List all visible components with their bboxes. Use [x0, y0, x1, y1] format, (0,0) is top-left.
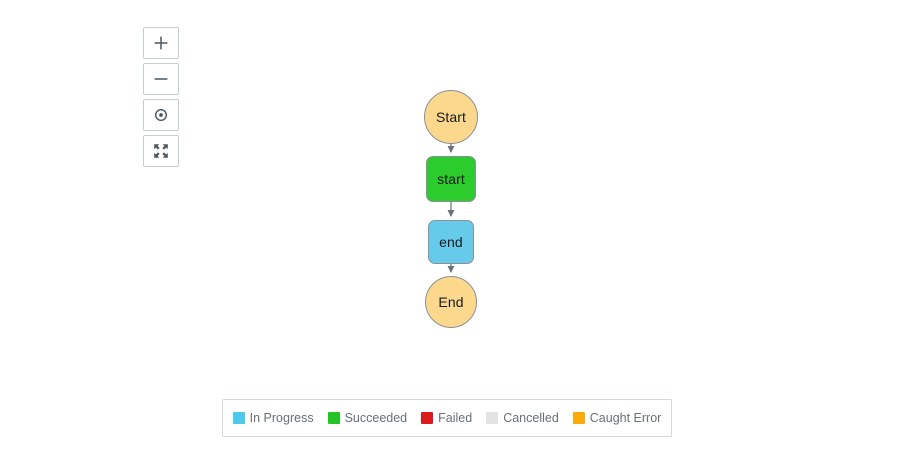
target-icon: [152, 106, 170, 124]
legend-swatch-in-progress: [233, 412, 245, 424]
graph-node-start[interactable]: Start: [424, 90, 478, 144]
legend-item-caught-error: Caught Error: [573, 411, 662, 425]
legend-swatch-cancelled: [486, 412, 498, 424]
graph-node-start-task[interactable]: start: [426, 156, 476, 202]
legend-item-in-progress: In Progress: [233, 411, 314, 425]
legend-swatch-succeeded: [328, 412, 340, 424]
legend-item-succeeded: Succeeded: [328, 411, 408, 425]
legend-label: In Progress: [250, 411, 314, 425]
graph-node-label: End: [438, 295, 463, 309]
graph-nodes-layer: Start start end End: [0, 0, 900, 450]
plus-icon: [152, 34, 170, 52]
fit-screen-icon: [152, 142, 170, 160]
minus-icon: [152, 70, 170, 88]
graph-node-end-task[interactable]: end: [428, 220, 474, 264]
legend-item-cancelled: Cancelled: [486, 411, 559, 425]
legend-label: Cancelled: [503, 411, 559, 425]
status-legend: In Progress Succeeded Failed Cancelled C…: [222, 399, 672, 437]
legend-swatch-caught-error: [573, 412, 585, 424]
graph-view-controls: [143, 27, 179, 167]
graph-node-label: start: [437, 172, 465, 186]
graph-node-label: Start: [436, 110, 466, 124]
legend-label: Failed: [438, 411, 472, 425]
legend-swatch-failed: [421, 412, 433, 424]
legend-label: Succeeded: [345, 411, 408, 425]
fit-to-screen-button[interactable]: [143, 135, 179, 167]
graph-canvas[interactable]: Start start end End In Progress Succeede…: [0, 0, 900, 450]
zoom-out-button[interactable]: [143, 63, 179, 95]
legend-label: Caught Error: [590, 411, 662, 425]
zoom-in-button[interactable]: [143, 27, 179, 59]
graph-node-end[interactable]: End: [425, 276, 477, 328]
graph-node-label: end: [439, 235, 463, 249]
center-graph-button[interactable]: [143, 99, 179, 131]
legend-item-failed: Failed: [421, 411, 472, 425]
